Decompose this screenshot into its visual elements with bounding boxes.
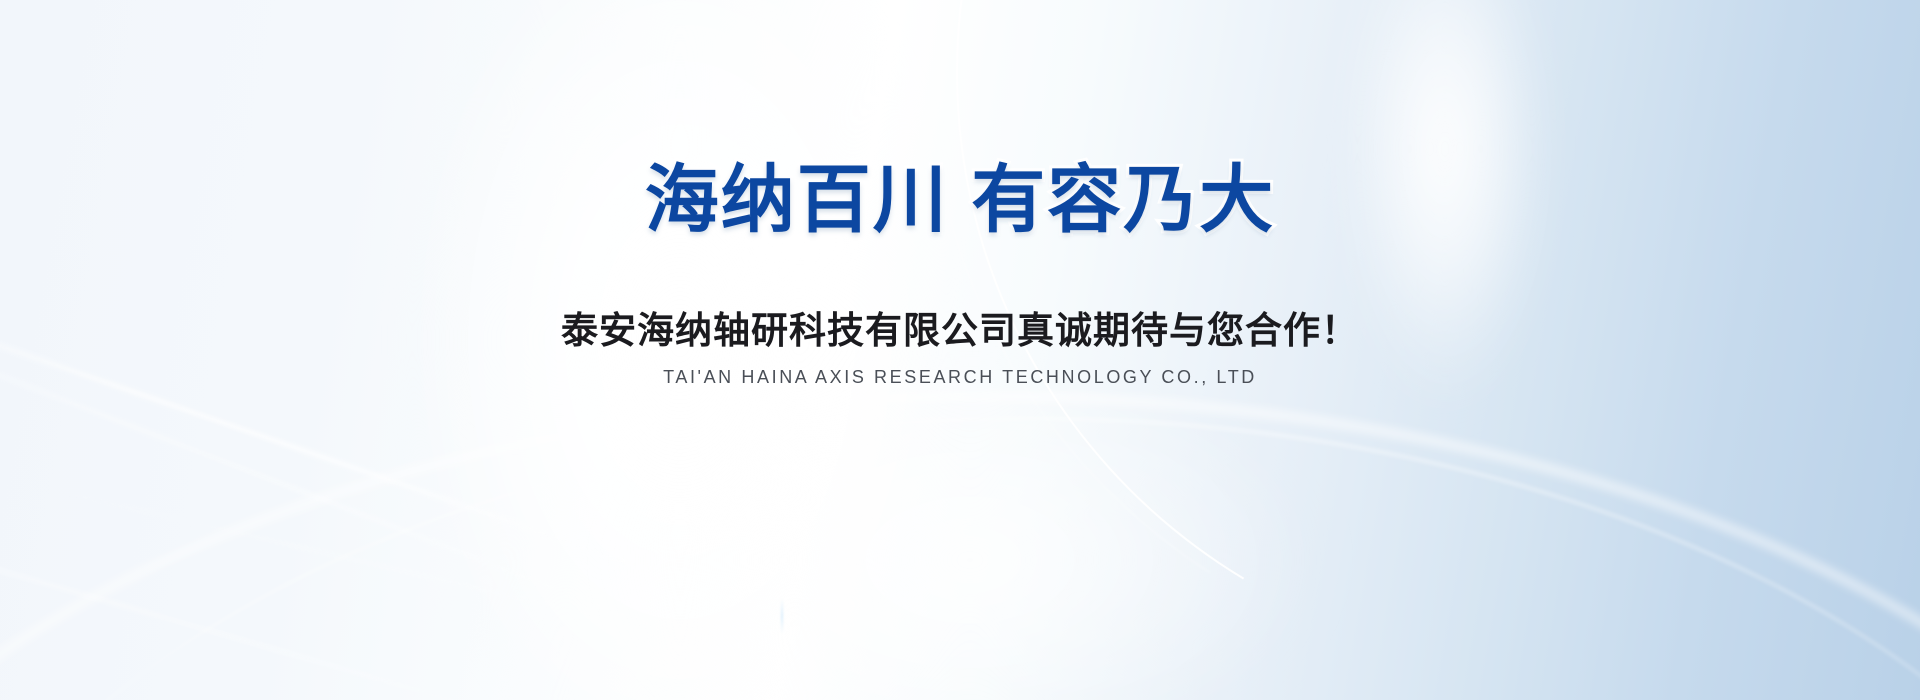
banner-subtitle-chinese: 泰安海纳轴研科技有限公司真诚期待与您合作！ [561, 309, 1359, 353]
banner-subtitle-english: TAI'AN HAINA AXIS RESEARCH TECHNOLOGY CO… [663, 367, 1257, 389]
banner-content: 海纳百川 有容乃大 泰安海纳轴研科技有限公司真诚期待与您合作！ TAI'AN H… [0, 0, 1920, 700]
hero-banner: 海纳百川 有容乃大 泰安海纳轴研科技有限公司真诚期待与您合作！ TAI'AN H… [0, 0, 1920, 700]
banner-headline: 海纳百川 有容乃大 [645, 163, 1276, 237]
